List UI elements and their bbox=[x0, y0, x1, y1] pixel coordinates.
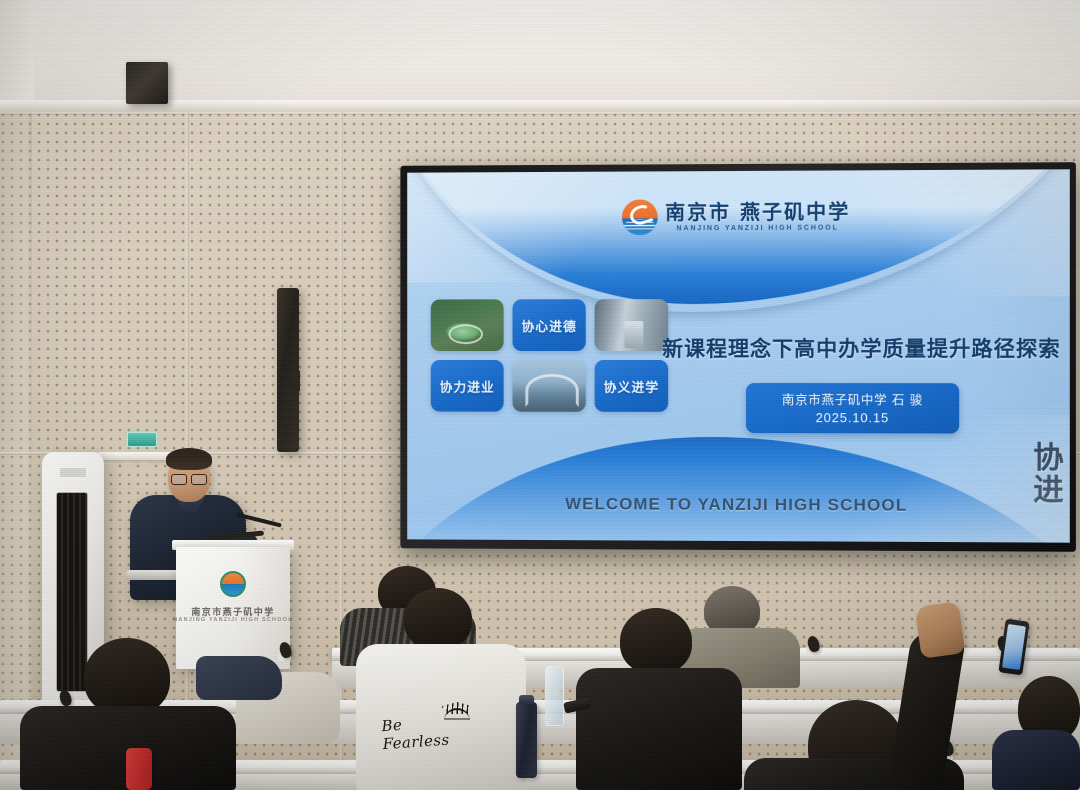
attendee-torso: Be Fearless bbox=[356, 644, 526, 790]
water-bottle bbox=[545, 666, 564, 726]
tee-graphic: Be Fearless bbox=[382, 706, 474, 740]
presentation-slide: 南京市 燕子矶中学 NANJING YANZIJI HIGH SCHOOL 协心… bbox=[407, 169, 1070, 542]
school-emblem-icon bbox=[220, 571, 246, 597]
attendee-head bbox=[404, 588, 472, 650]
attendee-head bbox=[620, 608, 692, 674]
motto-tile-2-label: 协力进业 bbox=[440, 376, 495, 395]
school-emblem-icon bbox=[621, 199, 657, 235]
podium-school-name-en: NANJING YANZIJI HIGH SCHOOL bbox=[173, 617, 293, 623]
attendee-torso bbox=[576, 668, 742, 790]
perforated-acoustic-wall-left bbox=[0, 112, 32, 790]
motto-tile-3: 协义进学 bbox=[595, 360, 669, 412]
motto-tile-1: 协心进德 bbox=[513, 299, 586, 351]
campus-gate-photo bbox=[513, 360, 586, 412]
draped-jacket bbox=[196, 656, 282, 700]
column-speaker bbox=[277, 288, 299, 452]
motto-tile-3-label: 协义进学 bbox=[604, 376, 660, 395]
presenter-glasses bbox=[171, 474, 207, 483]
ac-label bbox=[60, 468, 86, 477]
slide-tile-grid: 协心进德 协力进业 协义进学 bbox=[431, 299, 668, 412]
slide-fold-bottom-right bbox=[802, 415, 1070, 542]
panel-divider bbox=[340, 112, 343, 790]
school-logo: 南京市 燕子矶中学 NANJING YANZIJI HIGH SCHOOL bbox=[621, 199, 850, 236]
school-name-en: NANJING YANZIJI HIGH SCHOOL bbox=[677, 225, 839, 233]
attendee-head bbox=[84, 638, 170, 716]
podium: 南京市燕子矶中学 NANJING YANZIJI HIGH SCHOOL bbox=[176, 547, 290, 669]
wall-outlet bbox=[122, 462, 131, 468]
school-logo-text: 南京市 燕子矶中学 NANJING YANZIJI HIGH SCHOOL bbox=[665, 202, 850, 233]
motto-tile-1-label: 协心进德 bbox=[521, 316, 576, 335]
campus-street-photo bbox=[595, 299, 669, 351]
red-bottle bbox=[126, 748, 152, 790]
ac-vent bbox=[56, 492, 88, 692]
phone-screen bbox=[1002, 624, 1026, 670]
school-name-cn: 南京市 燕子矶中学 bbox=[665, 202, 850, 223]
lecture-hall-scene: 南京市 燕子矶中学 NANJING YANZIJI HIGH SCHOOL 协心… bbox=[0, 0, 1080, 790]
attendee-torso bbox=[992, 730, 1080, 790]
wall-outlet bbox=[140, 462, 149, 468]
wall-seam bbox=[0, 112, 1080, 115]
wall-outlet bbox=[104, 462, 113, 468]
sun-rays-icon bbox=[442, 702, 472, 714]
upper-wall-left-return bbox=[0, 0, 34, 100]
exit-sign bbox=[127, 432, 157, 447]
projection-screen[interactable]: 南京市 燕子矶中学 NANJING YANZIJI HIGH SCHOOL 协心… bbox=[400, 162, 1076, 552]
presenter-affiliation: 南京市燕子矶中学 石 骏 bbox=[754, 389, 951, 408]
wall-speaker bbox=[126, 62, 168, 104]
campus-aerial-photo bbox=[431, 299, 504, 351]
thermos-flask bbox=[516, 702, 537, 778]
motto-tile-2: 协力进业 bbox=[431, 360, 504, 412]
slide-title: 新课程理念下高中办学质量提升路径探索 bbox=[662, 333, 1066, 363]
welcome-text: WELCOME TO YANZIJI HIGH SCHOOL bbox=[407, 494, 1070, 517]
presenter-hair bbox=[166, 448, 212, 470]
presenter-laptop bbox=[125, 570, 181, 580]
photographer-hand bbox=[915, 601, 966, 659]
